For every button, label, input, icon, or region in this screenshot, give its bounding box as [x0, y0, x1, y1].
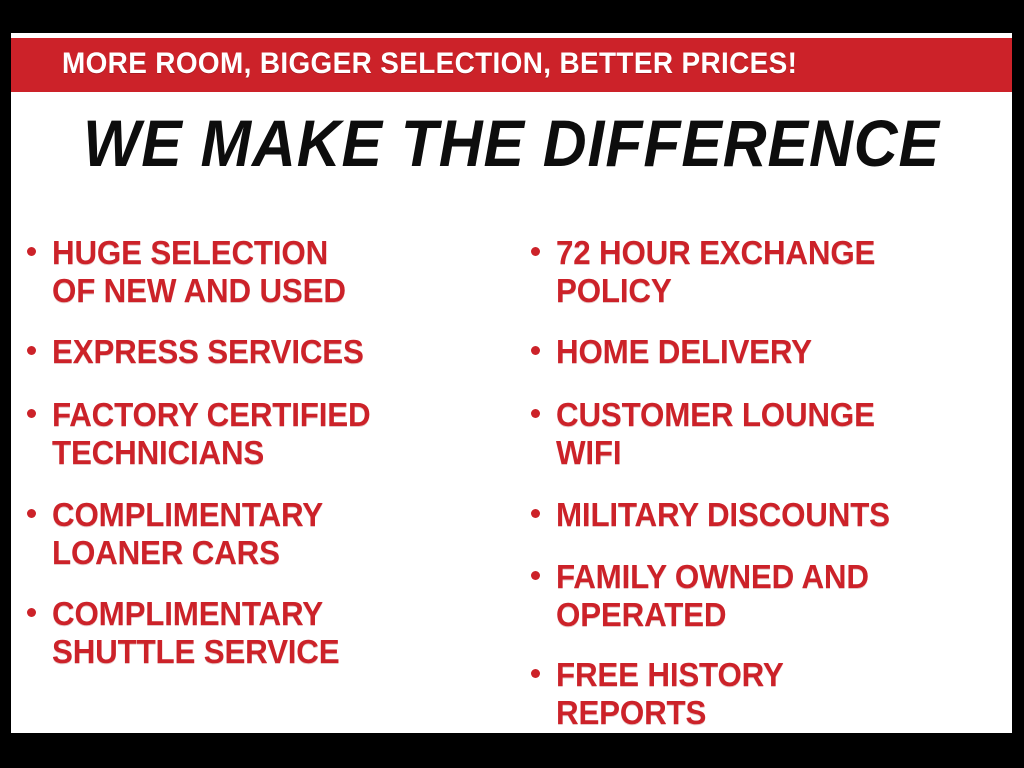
list-item: HUGE SELECTION OF NEW AND USED [27, 234, 361, 310]
bullet-dot-icon [531, 509, 540, 518]
poster-card: MORE ROOM, BIGGER SELECTION, BETTER PRIC… [11, 33, 1012, 733]
bullet-dot-icon [27, 608, 36, 617]
list-item-label: 72 HOUR EXCHANGE POLICY [556, 234, 875, 310]
promo-banner-text: MORE ROOM, BIGGER SELECTION, BETTER PRIC… [62, 45, 797, 83]
list-item: MILITARY DISCOUNTS [531, 496, 907, 534]
bullet-dot-icon [531, 571, 540, 580]
list-item-label: FREE HISTORY REPORTS [556, 656, 784, 732]
promo-banner: MORE ROOM, BIGGER SELECTION, BETTER PRIC… [11, 38, 1012, 92]
bullet-dot-icon [27, 509, 36, 518]
list-item-label: HOME DELIVERY [556, 333, 812, 371]
list-item-label: FAMILY OWNED AND OPERATED [556, 558, 869, 634]
list-item: CUSTOMER LOUNGE WIFI [531, 396, 892, 472]
bullet-dot-icon [531, 247, 540, 256]
list-item: COMPLIMENTARY SHUTTLE SERVICE [27, 595, 355, 671]
list-item: COMPLIMENTARY LOANER CARS [27, 496, 337, 572]
list-item-label: FACTORY CERTIFIED TECHNICIANS [52, 396, 370, 472]
list-item: FREE HISTORY REPORTS [531, 656, 796, 732]
bullet-dot-icon [531, 346, 540, 355]
poster-root: MORE ROOM, BIGGER SELECTION, BETTER PRIC… [0, 0, 1024, 768]
bullet-dot-icon [27, 247, 36, 256]
list-item: 72 HOUR EXCHANGE POLICY [531, 234, 892, 310]
list-item: FACTORY CERTIFIED TECHNICIANS [27, 396, 387, 472]
list-item: FAMILY OWNED AND OPERATED [531, 558, 885, 634]
list-item-label: COMPLIMENTARY SHUTTLE SERVICE [52, 595, 339, 671]
list-item: HOME DELIVERY [531, 333, 825, 371]
bullet-dot-icon [27, 409, 36, 418]
page-title: WE MAKE THE DIFFERENCE [51, 107, 972, 179]
list-item: EXPRESS SERVICES [27, 333, 380, 371]
list-item-label: MILITARY DISCOUNTS [556, 496, 890, 534]
list-item-label: EXPRESS SERVICES [52, 333, 364, 371]
list-item-label: CUSTOMER LOUNGE WIFI [556, 396, 875, 472]
bullet-dot-icon [27, 346, 36, 355]
list-item-label: HUGE SELECTION OF NEW AND USED [52, 234, 346, 310]
bullet-dot-icon [531, 409, 540, 418]
list-item-label: COMPLIMENTARY LOANER CARS [52, 496, 323, 572]
bullet-dot-icon [531, 669, 540, 678]
